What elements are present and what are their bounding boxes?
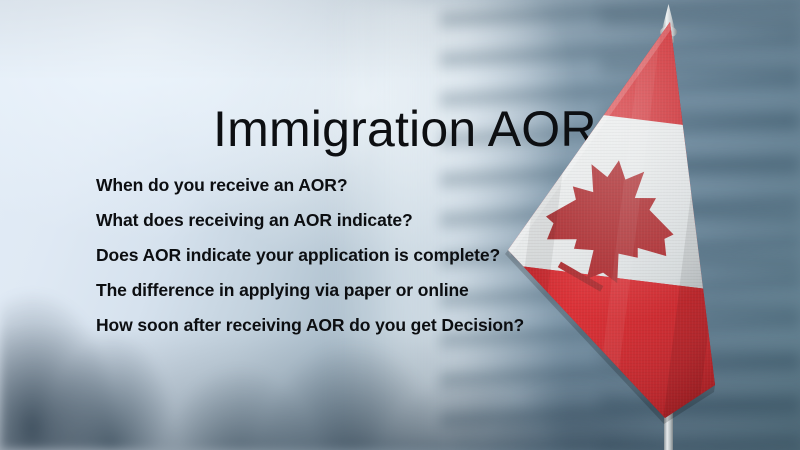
list-item: What does receiving an AOR indicate? <box>96 209 566 244</box>
list-item: How soon after receiving AOR do you get … <box>96 314 566 349</box>
list-item: The difference in applying via paper or … <box>96 279 566 314</box>
slide-canvas: Immigration AOR When do you receive an A… <box>0 0 800 450</box>
list-item: When do you receive an AOR? <box>96 174 566 209</box>
list-item: Does AOR indicate your application is co… <box>96 244 566 279</box>
page-title: Immigration AOR <box>213 104 597 154</box>
question-list: When do you receive an AOR? What does re… <box>96 174 566 349</box>
